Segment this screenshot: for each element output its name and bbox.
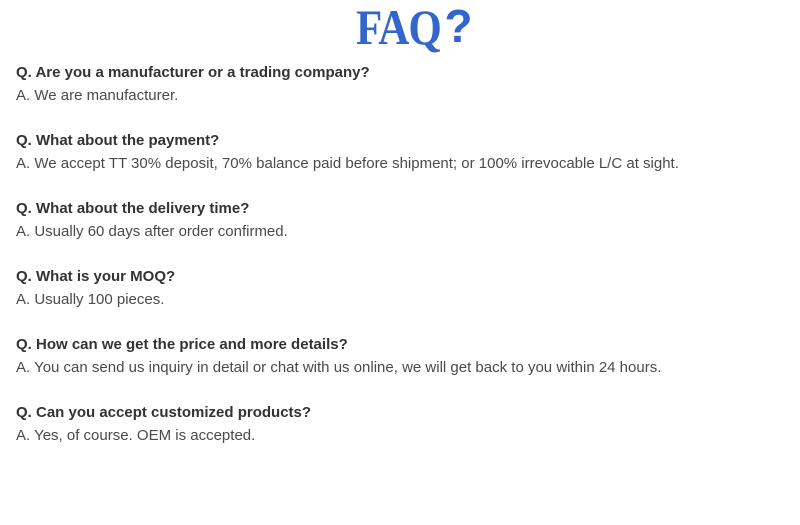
faq-question: Q. Can you accept customized products? [16, 402, 788, 424]
faq-question: Q. What is your MOQ? [16, 266, 788, 288]
faq-page: FAQ? Q. Are you a manufacturer or a trad… [0, 0, 800, 525]
faq-answer: A. Usually 60 days after order confirmed… [16, 220, 788, 243]
question-mark-icon: ? [444, 3, 472, 49]
faq-answer: A. We are manufacturer. [16, 84, 788, 107]
faq-answer: A. Yes, of course. OEM is accepted. [16, 424, 788, 447]
page-title: FAQ? [0, 2, 800, 52]
faq-item: Q. Are you a manufacturer or a trading c… [16, 62, 788, 107]
faq-question: Q. What about the delivery time? [16, 198, 788, 220]
faq-item: Q. How can we get the price and more det… [16, 334, 788, 379]
faq-answer: A. Usually 100 pieces. [16, 288, 788, 311]
faq-list: Q. Are you a manufacturer or a trading c… [16, 62, 788, 447]
page-title-inner: FAQ? [356, 2, 473, 52]
faq-item: Q. What about the delivery time? A. Usua… [16, 198, 788, 243]
faq-item: Q. What about the payment? A. We accept … [16, 130, 788, 175]
faq-title-text: FAQ [356, 2, 441, 52]
faq-item: Q. What is your MOQ? A. Usually 100 piec… [16, 266, 788, 311]
faq-answer: A. We accept TT 30% deposit, 70% balance… [16, 152, 788, 175]
faq-question: Q. How can we get the price and more det… [16, 334, 788, 356]
faq-question: Q. Are you a manufacturer or a trading c… [16, 62, 788, 84]
faq-item: Q. Can you accept customized products? A… [16, 402, 788, 447]
faq-question: Q. What about the payment? [16, 130, 788, 152]
faq-answer: A. You can send us inquiry in detail or … [16, 356, 788, 379]
